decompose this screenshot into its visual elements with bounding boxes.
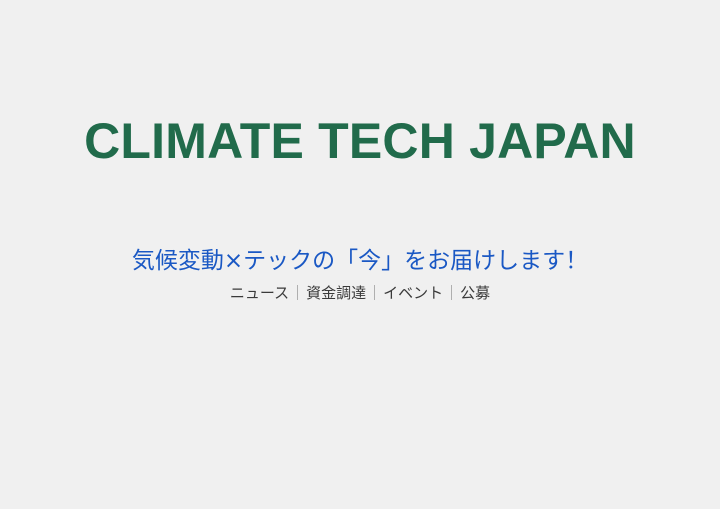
category-item-funding: 資金調達 xyxy=(306,284,366,302)
category-separator: ｜ xyxy=(366,284,383,302)
hero-subtitle: 気候変動×テックの「今」をお届けします！ xyxy=(0,246,720,276)
category-item-news: ニュース xyxy=(230,284,289,302)
hero-banner: CLIMATE TECH JAPAN 気候変動×テックの「今」をお届けします！ … xyxy=(0,0,720,509)
category-item-events: イベント xyxy=(383,284,443,302)
category-separator: ｜ xyxy=(443,284,460,302)
category-item-open-call: 公募 xyxy=(460,284,490,302)
hero-category-list: ニュース｜資金調達｜イベント｜公募 xyxy=(0,283,720,304)
category-separator: ｜ xyxy=(289,284,306,302)
page-title: CLIMATE TECH JAPAN xyxy=(0,108,720,174)
